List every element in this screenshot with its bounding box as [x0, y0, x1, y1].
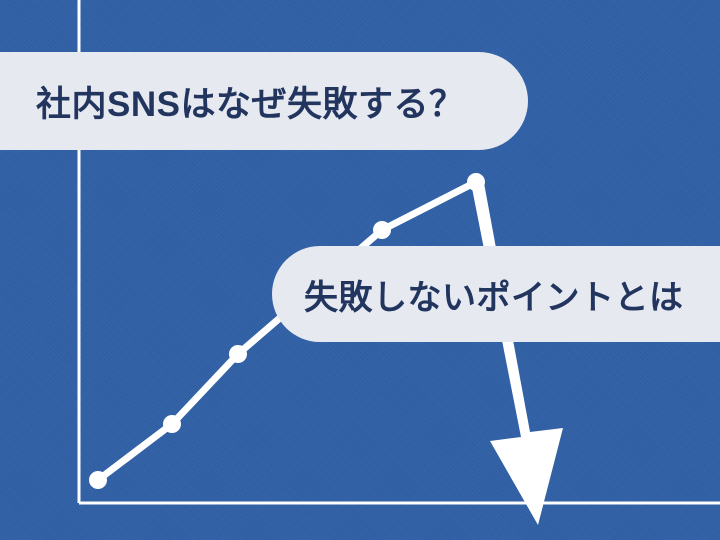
headline-text: 社内SNSはなぜ失敗する？ [36, 76, 464, 127]
slide-canvas: 社内SNSはなぜ失敗する？ 失敗しないポイントとは [0, 0, 720, 540]
data-point-marker [373, 221, 391, 239]
headline-banner: 社内SNSはなぜ失敗する？ [0, 52, 528, 150]
data-point-marker [229, 345, 247, 363]
decline-arrow-icon [471, 183, 563, 525]
subline-banner: 失敗しないポイントとは [272, 246, 720, 342]
data-point-marker [89, 471, 107, 489]
data-point-marker [163, 415, 181, 433]
subline-text: 失敗しないポイントとは [304, 270, 684, 319]
